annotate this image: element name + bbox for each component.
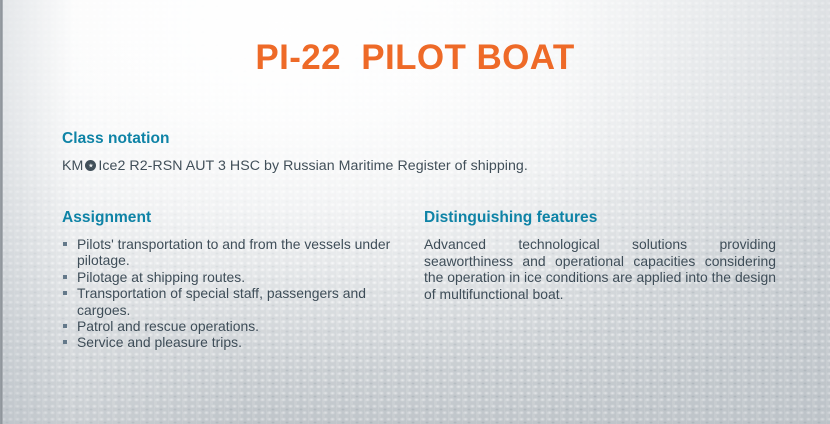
- class-notation-suffix: Ice2 R2-RSN AUT 3 HSC by Russian Maritim…: [98, 158, 527, 174]
- bullet-square-icon: [63, 275, 67, 279]
- list-item: Pilotage at shipping routes.: [62, 269, 410, 285]
- list-item: Pilots' transportation to and from the v…: [62, 236, 410, 269]
- assignment-heading: Assignment: [62, 209, 410, 227]
- bullet-square-icon: [63, 242, 67, 246]
- slide-title: PI-22 PILOT BOAT: [0, 38, 830, 78]
- list-item-label: Pilotage at shipping routes.: [77, 269, 245, 285]
- class-notation-section: Class notation KMIce2 R2-RSN AUT 3 HSC b…: [62, 130, 528, 174]
- class-notation-prefix: KM: [62, 158, 83, 174]
- list-item-label: Pilots' transportation to and from the v…: [77, 236, 390, 268]
- bullet-square-icon: [63, 291, 67, 295]
- list-item-label: Transportation of special staff, passeng…: [77, 285, 366, 317]
- list-item: Patrol and rescue operations.: [62, 318, 410, 334]
- list-item-label: Patrol and rescue operations.: [77, 318, 259, 334]
- list-item-label: Service and pleasure trips.: [77, 334, 242, 350]
- distinguishing-features-text: Advanced technological solutions providi…: [424, 236, 776, 302]
- circled-star-icon: [85, 160, 96, 171]
- distinguishing-features-section: Distinguishing features Advanced technol…: [424, 209, 776, 302]
- bullet-square-icon: [63, 340, 67, 344]
- assignment-list: Pilots' transportation to and from the v…: [62, 236, 410, 351]
- bullet-square-icon: [63, 324, 67, 328]
- slide-canvas: PI-22 PILOT BOAT Class notation KMIce2 R…: [0, 0, 830, 424]
- assignment-section: Assignment Pilots' transportation to and…: [62, 209, 410, 351]
- distinguishing-features-heading: Distinguishing features: [424, 209, 776, 227]
- class-notation-text: KMIce2 R2-RSN AUT 3 HSC by Russian Marit…: [62, 158, 528, 174]
- class-notation-heading: Class notation: [62, 130, 528, 148]
- list-item: Service and pleasure trips.: [62, 334, 410, 350]
- slide-content: PI-22 PILOT BOAT Class notation KMIce2 R…: [0, 0, 830, 424]
- list-item: Transportation of special staff, passeng…: [62, 285, 410, 318]
